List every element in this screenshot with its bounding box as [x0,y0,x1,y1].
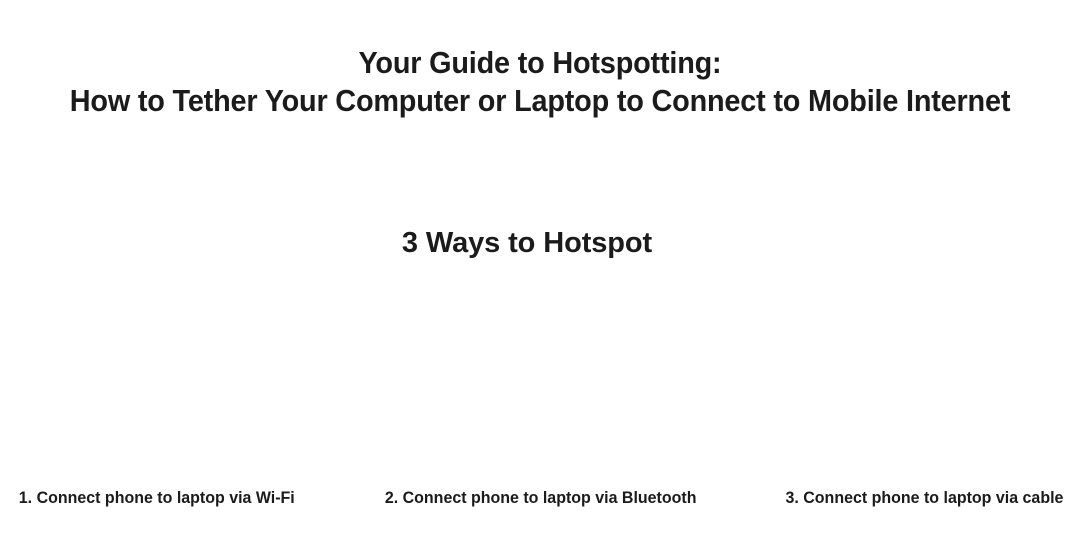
title-line-2: How to Tether Your Computer or Laptop to… [38,82,1042,120]
section-heading: 3 Ways to Hotspot [0,224,1080,262]
hotspotting-infographic: Your Guide to Hotspotting: How to Tether… [0,0,1080,552]
illustration-slot-wifi [0,282,360,480]
illustration-slot-cable [720,282,1080,480]
step-caption-bluetooth: 2. Connect phone to laptop via Bluetooth [378,486,704,516]
illustration-slot-bluetooth [360,282,720,480]
step-caption-wifi: 1. Connect phone to laptop via Wi-Fi [0,486,345,516]
caption-row: 1. Connect phone to laptop via Wi-Fi 2. … [0,486,1080,516]
illustration-band [0,282,1080,480]
page-title: Your Guide to Hotspotting: How to Tether… [0,44,1080,120]
title-line-1: Your Guide to Hotspotting: [38,44,1042,82]
step-caption-cable: 3. Connect phone to laptop via cable [737,486,1080,516]
